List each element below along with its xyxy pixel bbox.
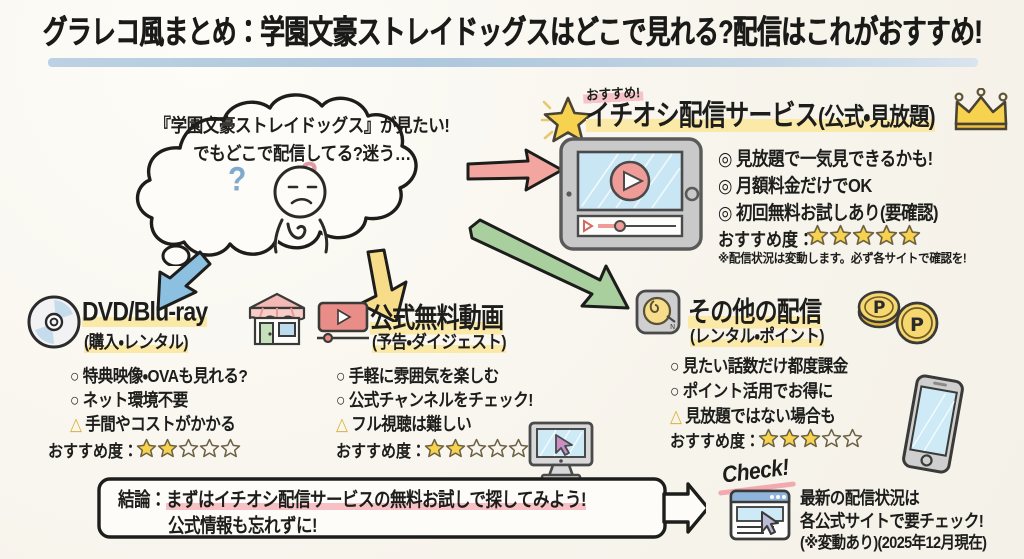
conclusion-line-1: 結論：まずはイチオシ配信サービスの無料お試しで探してみよう!: [118, 484, 586, 512]
bullet-mark: ○: [336, 391, 345, 410]
browser-window-icon: [728, 488, 792, 549]
hero-bullet-1: ◎ 見放題で一気見できるかも!: [718, 143, 933, 170]
bullet-text: 見たい話数だけ都度課金: [683, 357, 848, 376]
column-other-rating-stars: [758, 428, 863, 449]
hero-title-main: イチオシ配信サービス: [586, 100, 818, 132]
hero-title-sub: (公式・見放題): [818, 104, 935, 132]
page-title-text: グラレコ風まとめ：学園文豪ストレイドッグスはどこで見れる?配信はこれがおすすめ!: [42, 6, 981, 53]
rental-app-icon: N: [634, 288, 682, 341]
column-free-video-bullet-1: ○ 手軽に雰囲気を楽しむ: [336, 362, 499, 387]
hero-rating-stars: [806, 224, 921, 247]
column-dvd-bullet-2: ○ ネット環境不要: [70, 386, 188, 411]
bullet-mark: △: [70, 415, 81, 434]
disc-icon: [26, 294, 82, 355]
conclusion-line-2: 公式情報も忘れずに!: [168, 510, 317, 538]
bullet-text: 特典映像・OVAも見れる?: [83, 367, 248, 386]
hero-bullet-2: ◎ 月額料金だけでOK: [718, 170, 872, 197]
bullet-text: ネット環境不要: [83, 391, 188, 410]
question-mark-left-icon: ?: [228, 160, 246, 199]
infographic-canvas: グラレコ風まとめ：学園文豪ストレイドッグスはどこで見れる?配信はこれがおすすめ!…: [0, 0, 1024, 559]
column-other-bullet-3: △ 見放題ではない場合も: [670, 402, 835, 427]
svg-text:P: P: [873, 298, 885, 318]
svg-text:N: N: [670, 323, 675, 331]
video-player-icon: [316, 300, 370, 353]
column-other-subtitle: (レンタル・ポイント): [690, 322, 824, 347]
svg-text:P: P: [910, 314, 924, 336]
column-free-video-subtitle: (予告・ダイジェスト): [372, 328, 506, 353]
bullet-mark: △: [670, 407, 681, 426]
column-other-bullet-2: ○ ポイント活用でお得に: [670, 377, 833, 402]
bullet-mark: ○: [670, 357, 679, 376]
cloud-line-1: 『学園文豪ストレイドッグス』が見たい!: [132, 111, 472, 138]
check-line-3: (※変動あり)(2025年12月現在): [800, 530, 986, 554]
column-dvd-title: DVD/Blu-ray: [82, 296, 207, 328]
bullet-text: ポイント活用でお得に: [683, 382, 833, 401]
conclusion-prefix: 結論：: [118, 490, 166, 511]
bullet-text: 見放題ではない場合も: [685, 407, 835, 426]
conclusion-highlight: まずはイチオシ配信サービスの無料お試しで探してみよう!: [166, 490, 586, 511]
page-title: グラレコ風まとめ：学園文豪ストレイドッグスはどこで見れる?配信はこれがおすすめ!: [0, 6, 1024, 43]
bullet-mark: ○: [70, 391, 79, 410]
column-other-rating-label: おすすめ度：: [670, 429, 760, 453]
hero-bullet-3: ◎ 初回無料お試しあり(要確認): [718, 197, 938, 224]
bullet-mark: ○: [70, 367, 79, 386]
column-free-video-bullet-2: ○ 公式チャンネルをチェック!: [336, 386, 533, 411]
bullet-text: フル視聴は難しい: [351, 415, 471, 434]
column-dvd-rating-stars: [136, 438, 241, 459]
column-free-video-bullet-3: △ フル視聴は難しい: [336, 410, 471, 435]
title-underline: [48, 58, 978, 67]
smartphone-icon: [896, 372, 970, 481]
column-dvd-rating-label: おすすめ度：: [48, 439, 138, 463]
tablet-icon: [558, 136, 704, 257]
bullet-mark: ○: [670, 382, 679, 401]
hero-title: イチオシ配信サービス(公式・見放題): [586, 92, 935, 134]
column-free-video-rating-label: おすすめ度：: [336, 439, 426, 463]
column-free-video-rating-stars: [424, 438, 529, 459]
column-dvd-bullet-1: ○ 特典映像・OVAも見れる?: [70, 362, 247, 387]
check-line-1: 最新の配信状況は: [800, 484, 919, 509]
hero-note: ※配信状況は変動します。必ず各サイトで確認を!: [718, 249, 966, 267]
point-coin-icon: P: [894, 300, 940, 351]
bullet-text: 公式チャンネルをチェック!: [349, 391, 533, 410]
hero-rating-label: おすすめ度：: [718, 224, 814, 251]
shop-icon: [246, 290, 308, 351]
crown-icon: [952, 88, 1010, 137]
column-dvd-bullet-3: △ 手間やコストがかかる: [70, 410, 235, 435]
bullet-mark: ○: [336, 367, 345, 386]
arrow-to-streaming: [466, 148, 566, 199]
thinking-person-icon: [258, 162, 344, 259]
column-other-bullet-1: ○ 見たい話数だけ都度課金: [670, 352, 848, 377]
bullet-text: 手間やコストがかかる: [85, 415, 235, 434]
column-dvd-subtitle: (購入・レンタル): [84, 328, 188, 353]
bullet-text: 手軽に雰囲気を楽しむ: [349, 367, 499, 386]
bullet-mark: △: [336, 415, 347, 434]
